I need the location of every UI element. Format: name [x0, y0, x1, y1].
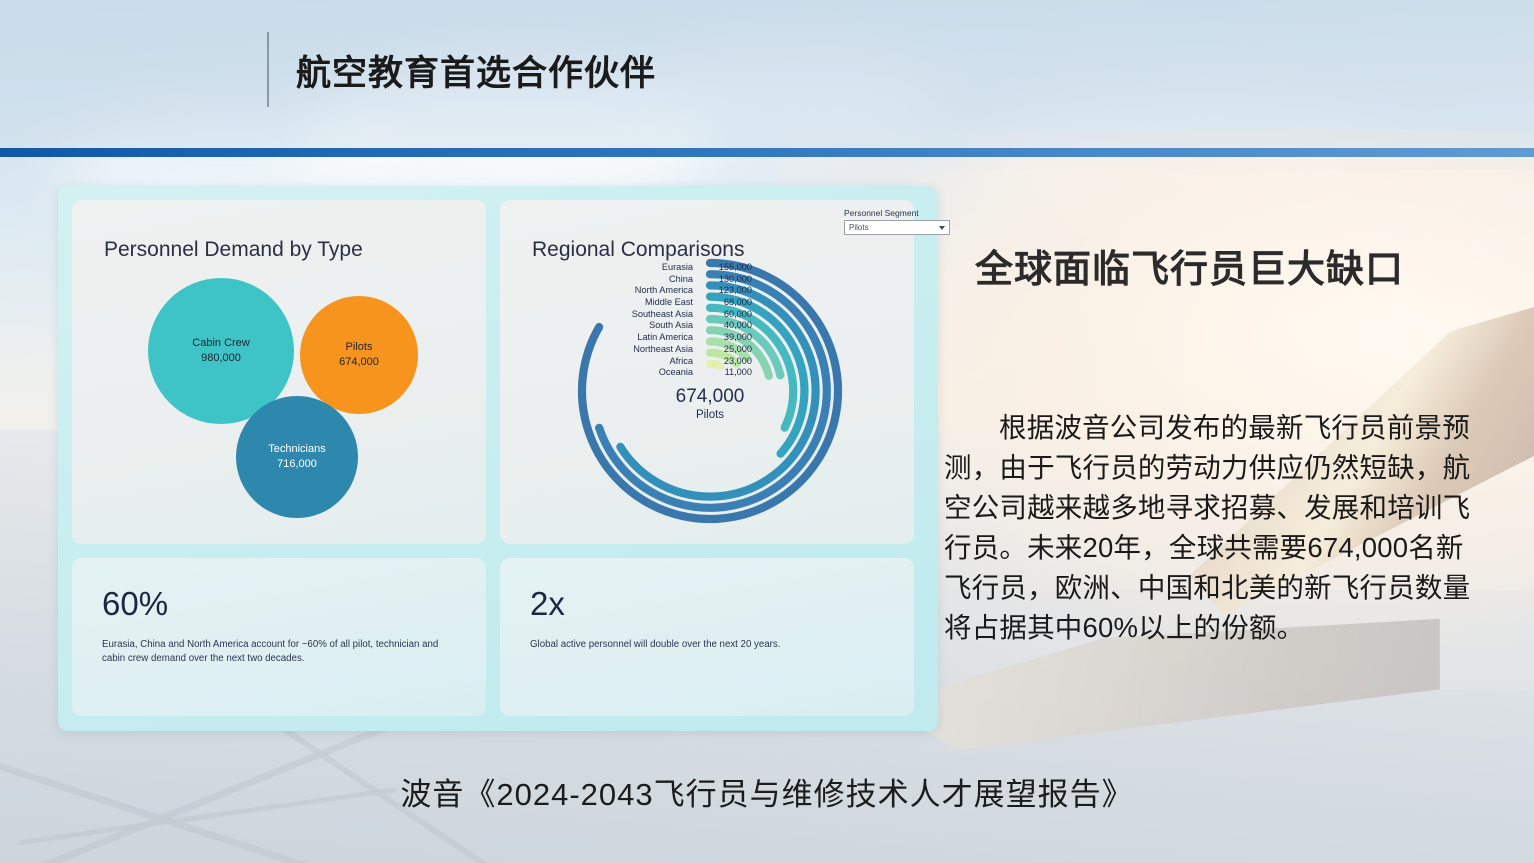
- radial-segment-name: Pilots: [630, 409, 790, 421]
- bubble-label: Pilots: [346, 340, 373, 355]
- bubble-value: 980,000: [201, 351, 241, 366]
- legend-row: South Asia40,000: [572, 320, 752, 332]
- header-tint: [0, 0, 1534, 150]
- legend-region-value: 130,000: [700, 274, 752, 286]
- legend-region-name: Latin America: [572, 332, 700, 344]
- chevron-down-icon: [939, 226, 945, 230]
- stat-description: Eurasia, China and North America account…: [102, 638, 450, 666]
- stat-value: 2x: [530, 585, 565, 623]
- legend-row: Northeast Asia25,000: [572, 344, 752, 356]
- personnel-segment-value: Pilots: [849, 223, 869, 232]
- panel-personnel-demand: Personnel Demand by Type Cabin Crew 980,…: [72, 200, 486, 544]
- personnel-segment-filter: Personnel Segment Pilots: [844, 208, 950, 235]
- personnel-segment-label: Personnel Segment: [844, 208, 950, 218]
- legend-region-value: 25,000: [700, 344, 752, 356]
- stat-value: 60%: [102, 585, 168, 623]
- legend-region-value: 155,000: [700, 262, 752, 274]
- region-legend: Eurasia155,000China130,000North America1…: [572, 262, 752, 379]
- legend-region-name: Oceania: [572, 367, 700, 379]
- legend-region-name: North America: [572, 285, 700, 297]
- panel-regional-comparisons: Regional Comparisons Personnel Segment P…: [500, 200, 914, 544]
- header-bar: [0, 0, 1534, 150]
- legend-region-value: 11,000: [700, 367, 752, 379]
- legend-row: North America123,000: [572, 285, 752, 297]
- radial-total-value: 674,000: [630, 386, 790, 408]
- stat-description: Global active personnel will double over…: [530, 638, 878, 652]
- legend-row: China130,000: [572, 274, 752, 286]
- page-title: 航空教育首选合作伙伴: [296, 45, 656, 96]
- section-heading: 全球面临飞行员巨大缺口: [975, 238, 1404, 293]
- title-accent-rule: [267, 32, 269, 107]
- bubble-value: 716,000: [277, 457, 317, 472]
- legend-row: Middle East68,000: [572, 297, 752, 309]
- dashboard-container: Personnel Demand by Type Cabin Crew 980,…: [58, 186, 938, 731]
- bubble-label: Technicians: [268, 442, 325, 457]
- header-divider: [0, 148, 1534, 157]
- legend-region-value: 60,000: [700, 309, 752, 321]
- legend-row: Eurasia155,000: [572, 262, 752, 274]
- radial-center-label: 674,000 Pilots: [630, 386, 790, 421]
- legend-region-name: South Asia: [572, 320, 700, 332]
- legend-region-name: Eurasia: [572, 262, 700, 274]
- legend-row: Latin America39,000: [572, 332, 752, 344]
- stat-card-60-percent: 60% Eurasia, China and North America acc…: [72, 558, 486, 716]
- stat-card-2x: 2x Global active personnel will double o…: [500, 558, 914, 716]
- legend-region-value: 123,000: [700, 285, 752, 297]
- legend-region-name: Middle East: [572, 297, 700, 309]
- section-paragraph: 根据波音公司发布的最新飞行员前景预测，由于飞行员的劳动力供应仍然短缺，航空公司越…: [944, 408, 1476, 648]
- bubble-label: Cabin Crew: [192, 336, 249, 351]
- bubble-technicians[interactable]: Technicians 716,000: [236, 396, 358, 518]
- bubble-pilots[interactable]: Pilots 674,000: [300, 296, 418, 414]
- panel-title-demand: Personnel Demand by Type: [104, 238, 363, 262]
- bubble-value: 674,000: [339, 355, 379, 370]
- legend-region-value: 40,000: [700, 320, 752, 332]
- legend-row: Africa23,000: [572, 356, 752, 368]
- legend-row: Southeast Asia60,000: [572, 309, 752, 321]
- legend-row: Oceania11,000: [572, 367, 752, 379]
- source-caption: 波音《2024-2043飞行员与维修技术人才展望报告》: [0, 769, 1534, 814]
- legend-region-name: China: [572, 274, 700, 286]
- legend-region-name: Southeast Asia: [572, 309, 700, 321]
- legend-region-value: 68,000: [700, 297, 752, 309]
- legend-region-value: 39,000: [700, 332, 752, 344]
- legend-region-name: Africa: [572, 356, 700, 368]
- legend-region-name: Northeast Asia: [572, 344, 700, 356]
- personnel-segment-dropdown[interactable]: Pilots: [844, 220, 950, 235]
- legend-region-value: 23,000: [700, 356, 752, 368]
